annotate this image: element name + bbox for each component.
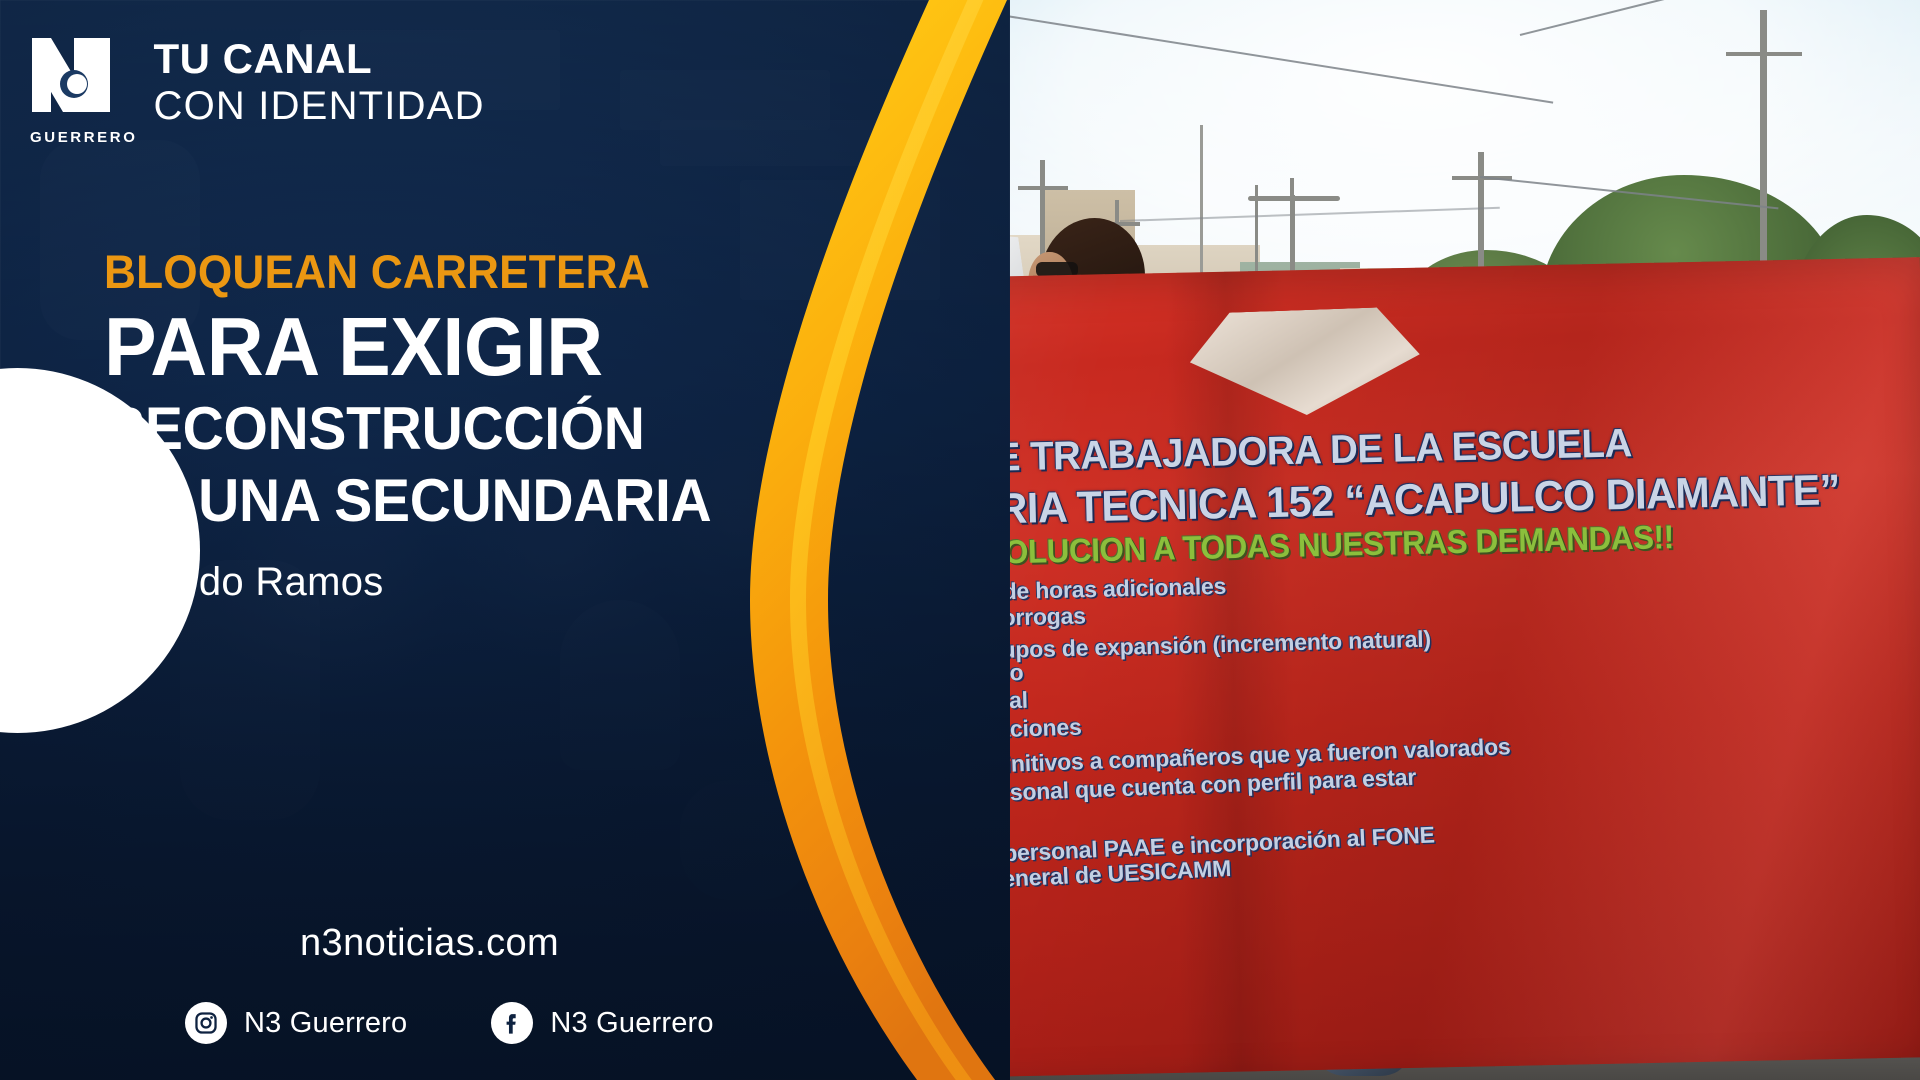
- logo-wordmark: GUERRERO: [30, 129, 137, 146]
- slogan-line-1: TU CANAL: [153, 38, 484, 80]
- reporter-byline: Ricardo Ramos: [104, 560, 764, 605]
- street-lamp-arm: [1248, 196, 1340, 201]
- channel-logo: GUERRERO TU CANAL CON IDENTIDAD: [30, 34, 485, 146]
- instagram-handle: N3 Guerrero: [244, 1007, 407, 1040]
- slogan-line-2: CON IDENTIDAD: [153, 84, 484, 129]
- logo-lockup: GUERRERO: [30, 34, 137, 146]
- facebook-handle: N3 Guerrero: [550, 1007, 713, 1040]
- pole-crossarm: [1726, 52, 1802, 56]
- social-link-facebook[interactable]: N3 Guerrero: [491, 1002, 713, 1044]
- pole-crossarm: [1018, 186, 1068, 190]
- headline-line-3: DE UNA SECUNDARIA: [104, 470, 731, 532]
- news-lower-third-graphic: LA BASE TRABAJADORA DE LA ESCUELA SECUND…: [0, 0, 1920, 1080]
- headline-line-2: RECONSTRUCCIÓN: [104, 398, 731, 460]
- headline-line-1: PARA EXIGIR: [104, 307, 731, 388]
- website-url[interactable]: n3noticias.com: [300, 922, 559, 965]
- facebook-icon: [491, 1002, 533, 1044]
- social-links: N3 Guerrero N3 Guerrero: [185, 1002, 714, 1044]
- social-link-instagram[interactable]: N3 Guerrero: [185, 1002, 407, 1044]
- n3-logo-icon: [30, 34, 112, 120]
- headline-block: BLOQUEAN CARRETERA PARA EXIGIR RECONSTRU…: [104, 248, 764, 605]
- channel-slogan: TU CANAL CON IDENTIDAD: [153, 34, 484, 129]
- headline-kicker: BLOQUEAN CARRETERA: [104, 248, 724, 295]
- instagram-icon: [185, 1002, 227, 1044]
